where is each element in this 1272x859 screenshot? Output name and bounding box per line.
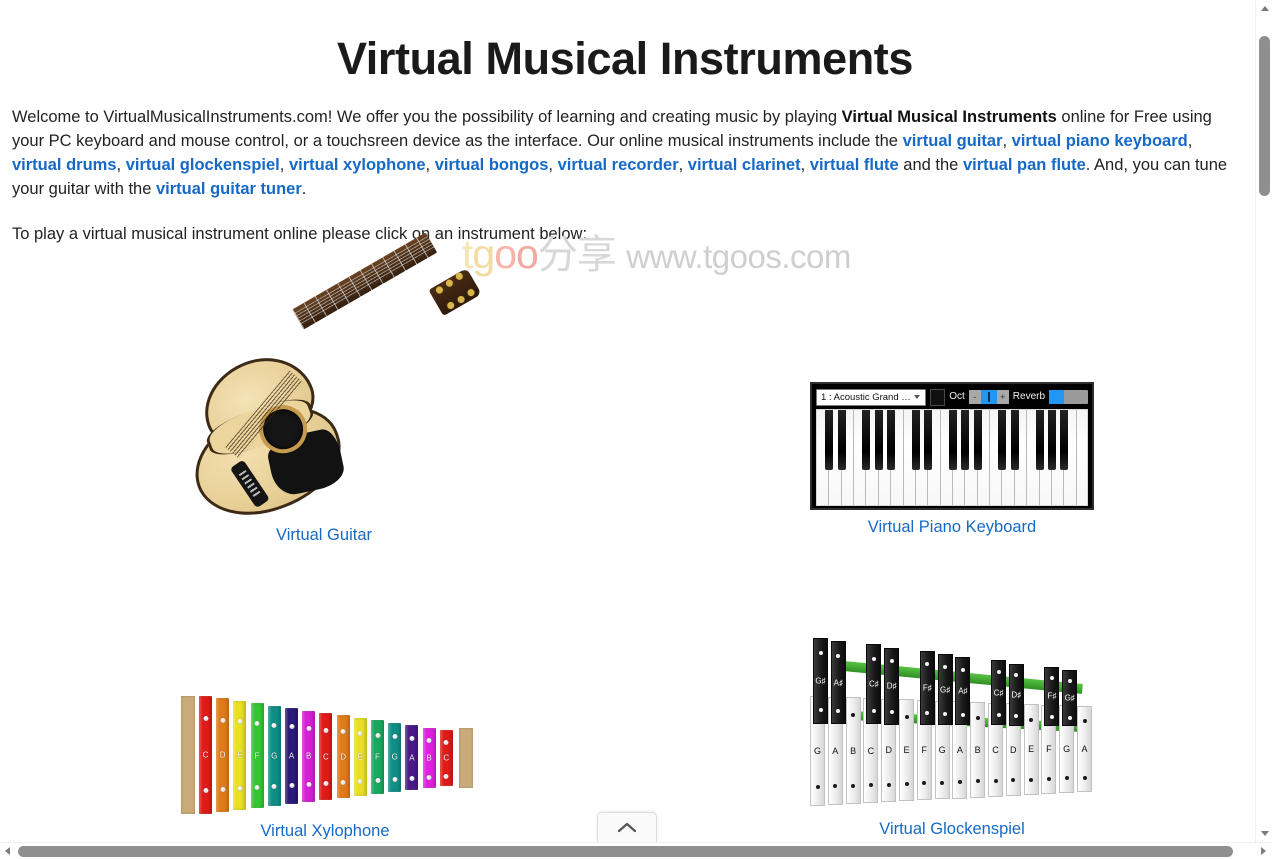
- glockenspiel-bar-peg: [816, 785, 820, 789]
- xylophone-bar-peg: [255, 721, 260, 726]
- glockenspiel-bar-peg: [851, 784, 855, 788]
- xylophone-bar-peg: [444, 740, 449, 745]
- instrument-card-xylophone[interactable]: CDEFGABCDEFGABC Virtual Xylophone: [172, 682, 478, 841]
- glockenspiel-bar-peg: [1029, 778, 1033, 782]
- intro-sep-7: ,: [679, 156, 688, 174]
- volume-box[interactable]: [930, 389, 946, 406]
- xylophone-bar-label: G: [268, 751, 281, 760]
- glockenspiel-graphic[interactable]: GABCDEFGABCDEFGAG♯A♯C♯D♯F♯G♯A♯C♯D♯F♯G♯: [804, 630, 1100, 812]
- triangle-right-icon: [1261, 847, 1266, 855]
- intro-sep-8: ,: [801, 156, 810, 174]
- glockenspiel-bar-peg: [940, 781, 944, 785]
- instrument-card-glockenspiel[interactable]: GABCDEFGABCDEFGAG♯A♯C♯D♯F♯G♯A♯C♯D♯F♯G♯ V…: [802, 630, 1102, 839]
- xylophone-bar-peg: [272, 723, 277, 728]
- glockenspiel-white-bar-label: E: [900, 745, 913, 755]
- glockenspiel-bar-peg: [1014, 714, 1018, 718]
- glockenspiel-white-bar-label: F: [918, 745, 931, 755]
- glockenspiel-bar-peg: [905, 782, 909, 786]
- chevron-down-icon: [914, 395, 920, 399]
- piano-black-key[interactable]: [998, 410, 1006, 470]
- octave-control[interactable]: - +: [969, 390, 1009, 404]
- xylophone-bar-label: A: [405, 753, 418, 762]
- xylophone-bar[interactable]: A: [405, 725, 418, 790]
- intro-sep-4: ,: [280, 156, 289, 174]
- glockenspiel-bar-peg: [1083, 719, 1087, 723]
- scroll-to-top-button[interactable]: [597, 812, 657, 842]
- glockenspiel-black-bar-label: G♯: [939, 685, 952, 694]
- xylophone-bar-label: D: [216, 751, 229, 760]
- piano-black-key[interactable]: [912, 410, 920, 470]
- xylophone-bar-label: C: [440, 754, 453, 763]
- piano-black-key[interactable]: [825, 410, 833, 470]
- xylophone-bar-label: F: [371, 753, 384, 762]
- link-virtual-guitar-tuner[interactable]: virtual guitar tuner: [156, 180, 302, 198]
- glockenspiel-black-bar-label: F♯: [1045, 692, 1058, 701]
- glockenspiel-bar-peg: [1050, 715, 1054, 719]
- vertical-scrollbar-thumb[interactable]: [1259, 36, 1270, 196]
- guitar-tuning-peg: [466, 288, 476, 298]
- glockenspiel-bar-peg: [869, 783, 873, 787]
- glockenspiel-bar-peg: [1083, 776, 1087, 780]
- glockenspiel-bar-peg: [1014, 673, 1018, 677]
- reverb-label: Reverb: [1013, 391, 1045, 403]
- link-virtual-xylophone[interactable]: virtual xylophone: [289, 156, 426, 174]
- piano-black-key[interactable]: [862, 410, 870, 470]
- glockenspiel-bar-peg: [1047, 777, 1051, 781]
- glockenspiel-white-bar-label: E: [1025, 744, 1038, 754]
- glockenspiel-bar-peg: [976, 779, 980, 783]
- xylophone-bar[interactable]: C: [440, 730, 453, 786]
- link-virtual-glockenspiel[interactable]: virtual glockenspiel: [126, 156, 280, 174]
- glockenspiel-white-bar-label: G: [811, 746, 824, 756]
- intro-sep-2: ,: [1188, 132, 1193, 150]
- piano-black-key[interactable]: [924, 410, 932, 470]
- xylophone-bar[interactable]: E: [233, 701, 246, 810]
- glockenspiel-black-bar-label: D♯: [1010, 690, 1023, 699]
- xylophone-bar-label: E: [354, 752, 367, 761]
- horizontal-scrollbar-thumb[interactable]: [18, 846, 1233, 857]
- glockenspiel-white-bar-label: C: [864, 746, 877, 756]
- xylophone-bar-peg: [289, 783, 294, 788]
- glockenspiel-white-bar-label: G: [1060, 744, 1073, 754]
- piano-black-key[interactable]: [961, 410, 969, 470]
- glockenspiel-bar-peg: [836, 709, 840, 713]
- glockenspiel-bar-peg: [976, 716, 980, 720]
- piano-black-key[interactable]: [1036, 410, 1044, 470]
- glockenspiel-white-bar-label: G: [936, 745, 949, 755]
- glockenspiel-bar-peg: [836, 654, 840, 658]
- intro-text-3: and the: [899, 156, 963, 174]
- guitar-tuning-peg: [445, 278, 455, 288]
- triangle-up-icon: [1261, 6, 1269, 11]
- reverb-slider[interactable]: [1049, 390, 1088, 404]
- link-virtual-pan-flute[interactable]: virtual pan flute: [963, 156, 1086, 174]
- xylophone-bar-peg: [237, 719, 242, 724]
- glockenspiel-white-bar-label: F: [1042, 744, 1055, 754]
- vertical-scrollbar[interactable]: [1255, 0, 1272, 842]
- xylophone-bar-peg: [392, 777, 397, 782]
- xylophone-bar-peg: [358, 779, 363, 784]
- glockenspiel-black-bar-label: A♯: [832, 678, 845, 687]
- xylophone-bar-label: C: [319, 752, 332, 761]
- xylophone-bar-peg: [341, 729, 346, 734]
- octave-minus-button[interactable]: -: [969, 390, 981, 404]
- piano-black-key[interactable]: [1060, 410, 1068, 470]
- xylophone-bar-label: B: [302, 752, 315, 761]
- xylophone-bar-peg: [220, 718, 225, 723]
- piano-illustration[interactable]: 1 : Acoustic Grand Piano Oct - + Reverb: [810, 382, 1094, 510]
- intro-sep-3: ,: [117, 156, 126, 174]
- glockenspiel-black-bar-label: D♯: [885, 682, 898, 691]
- xylophone-bar-peg: [427, 775, 432, 780]
- reverb-slider-fill: [1049, 390, 1064, 404]
- xylophone-bar-label: F: [251, 751, 264, 760]
- glockenspiel-bar-peg: [905, 715, 909, 719]
- guitar-graphic: [174, 282, 474, 518]
- xylophone-bar-peg: [203, 716, 208, 721]
- xylophone-bar[interactable]: B: [423, 728, 436, 788]
- intro-sep-1: ,: [1003, 132, 1012, 150]
- piano-black-key[interactable]: [974, 410, 982, 470]
- glockenspiel-black-bar-label: G♯: [1063, 694, 1076, 703]
- glockenspiel-bar-peg: [943, 665, 947, 669]
- piano-keys[interactable]: [816, 409, 1088, 506]
- horizontal-scrollbar[interactable]: [0, 842, 1272, 859]
- link-virtual-drums[interactable]: virtual drums: [12, 156, 117, 174]
- xylophone-bar-peg: [237, 786, 242, 791]
- intro-text-5: .: [302, 180, 307, 198]
- glockenspiel-black-bar[interactable]: F♯: [1044, 667, 1059, 726]
- glockenspiel-bar-peg: [1050, 676, 1054, 680]
- glockenspiel-white-bar-label: A: [1078, 744, 1091, 754]
- link-virtual-guitar[interactable]: virtual guitar: [903, 132, 1003, 150]
- octave-plus-button[interactable]: +: [997, 390, 1009, 404]
- glockenspiel-bar-peg: [872, 657, 876, 661]
- glockenspiel-bar-peg: [1068, 716, 1072, 720]
- browser-page: Virtual Musical Instruments Welcome to V…: [0, 0, 1272, 859]
- xylophone-bar-peg: [392, 734, 397, 739]
- scroll-right-arrow[interactable]: [1255, 843, 1272, 859]
- xylophone-bar[interactable]: G: [268, 706, 281, 806]
- glockenspiel-black-bar-label: C♯: [867, 680, 880, 689]
- xylophone-bar-label: B: [423, 753, 436, 762]
- glockenspiel-bar-peg: [890, 659, 894, 663]
- intro-sep-6: ,: [548, 156, 557, 174]
- glockenspiel-black-bar[interactable]: A♯: [955, 657, 970, 725]
- xylophone-bar[interactable]: G: [388, 723, 401, 792]
- guitar-body: [161, 332, 378, 535]
- xylophone-bar-peg: [375, 733, 380, 738]
- glockenspiel-illustration[interactable]: GABCDEFGABCDEFGAG♯A♯C♯D♯F♯G♯A♯C♯D♯F♯G♯: [804, 630, 1100, 812]
- xylophone-bar-peg: [289, 724, 294, 729]
- piano-black-key[interactable]: [1048, 410, 1056, 470]
- xylophone-bar-peg: [409, 776, 414, 781]
- glockenspiel-white-bar[interactable]: B: [970, 702, 985, 798]
- xylophone-bar-peg: [272, 784, 277, 789]
- link-virtual-piano-keyboard[interactable]: virtual piano keyboard: [1012, 132, 1188, 150]
- xylophone-bar-peg: [323, 728, 328, 733]
- glockenspiel-black-bar[interactable]: C♯: [991, 660, 1006, 725]
- link-virtual-bongos[interactable]: virtual bongos: [435, 156, 549, 174]
- glockenspiel-white-bar-label: A: [829, 746, 842, 756]
- glockenspiel-bar-peg: [961, 713, 965, 717]
- piano-widget[interactable]: 1 : Acoustic Grand Piano Oct - + Reverb: [810, 382, 1094, 510]
- xylophone-bar-label: A: [285, 752, 298, 761]
- glockenspiel-bar-peg: [997, 670, 1001, 674]
- glockenspiel-bar-peg: [961, 668, 965, 672]
- glockenspiel-white-bar-label: C: [989, 745, 1002, 755]
- scroll-left-arrow[interactable]: [0, 843, 17, 859]
- guitar-tuning-peg: [454, 272, 464, 282]
- instrument-card-piano[interactable]: 1 : Acoustic Grand Piano Oct - + Reverb: [802, 382, 1102, 537]
- piano-black-key[interactable]: [949, 410, 957, 470]
- glockenspiel-black-bar[interactable]: D♯: [884, 648, 899, 725]
- xylophone-bar-label: E: [233, 751, 246, 760]
- guitar-tuning-peg: [446, 301, 456, 311]
- glockenspiel-bar-peg: [925, 711, 929, 715]
- xylophone-bar[interactable]: D: [216, 698, 229, 812]
- xylophone-bar-peg: [306, 782, 311, 787]
- intro-text-1: Welcome to VirtualMusicalInstruments.com…: [12, 108, 842, 126]
- glockenspiel-bar-peg: [887, 783, 891, 787]
- page-title: Virtual Musical Instruments: [12, 0, 1238, 84]
- glockenspiel-bar-peg: [890, 710, 894, 714]
- glockenspiel-bar-peg: [1029, 718, 1033, 722]
- triangle-down-icon: [1261, 831, 1269, 836]
- xylophone-bar[interactable]: E: [354, 718, 367, 796]
- xylophone-bar[interactable]: D: [337, 715, 350, 798]
- instrument-select-value: 1 : Acoustic Grand Piano: [821, 392, 914, 403]
- glockenspiel-bar-peg: [922, 781, 926, 785]
- glockenspiel-black-bar[interactable]: F♯: [920, 651, 935, 725]
- glockenspiel-black-bar[interactable]: G♯: [1062, 670, 1077, 726]
- xylophone-bar-label: G: [388, 753, 401, 762]
- glockenspiel-black-bar[interactable]: A♯: [831, 641, 846, 724]
- xylophone-bar-peg: [358, 731, 363, 736]
- xylophone-frame-right: [459, 728, 473, 788]
- xylophone-bar-peg: [444, 774, 449, 779]
- octave-slider[interactable]: [981, 390, 997, 404]
- glockenspiel-bar-peg: [819, 651, 823, 655]
- glockenspiel-black-bar-label: F♯: [921, 683, 934, 692]
- glockenspiel-bar-peg: [819, 708, 823, 712]
- instrument-select[interactable]: 1 : Acoustic Grand Piano: [816, 389, 926, 406]
- xylophone-bar[interactable]: F: [251, 703, 264, 808]
- chevron-up-icon: [617, 821, 637, 833]
- glockenspiel-black-bar[interactable]: C♯: [866, 644, 881, 724]
- link-virtual-clarinet[interactable]: virtual clarinet: [688, 156, 801, 174]
- triangle-left-icon: [5, 847, 10, 855]
- xylophone-graphic[interactable]: CDEFGABCDEFGABC: [177, 682, 473, 814]
- xylophone-bar-peg: [341, 780, 346, 785]
- glockenspiel-white-bar-label: A: [953, 745, 966, 755]
- xylophone-bar-peg: [323, 781, 328, 786]
- glockenspiel-black-bar-label: G♯: [814, 677, 827, 686]
- piano-black-key[interactable]: [875, 410, 883, 470]
- glockenspiel-bar-peg: [851, 713, 855, 717]
- glockenspiel-white-bar[interactable]: B: [846, 697, 861, 804]
- glockenspiel-white-bar[interactable]: A: [1077, 706, 1092, 792]
- glockenspiel-bar-peg: [925, 662, 929, 666]
- guitar-tuning-peg: [456, 295, 466, 305]
- glockenspiel-bar-peg: [1065, 776, 1069, 780]
- guitar-tuning-peg: [435, 285, 445, 295]
- glockenspiel-black-bar-label: C♯: [992, 688, 1005, 697]
- xylophone-bar-peg: [220, 787, 225, 792]
- xylophone-bar[interactable]: C: [319, 713, 332, 800]
- glockenspiel-bar-peg: [833, 784, 837, 788]
- glockenspiel-bar-peg: [997, 713, 1001, 717]
- glockenspiel-black-bar[interactable]: G♯: [938, 654, 953, 725]
- xylophone-bar-peg: [255, 785, 260, 790]
- xylophone-bar-peg: [427, 738, 432, 743]
- caption-virtual-xylophone[interactable]: Virtual Xylophone: [172, 821, 478, 841]
- glockenspiel-bar-peg: [958, 780, 962, 784]
- intro-paragraph: Welcome to VirtualMusicalInstruments.com…: [12, 84, 1238, 201]
- xylophone-bar[interactable]: C: [199, 696, 212, 814]
- glockenspiel-black-bar-label: A♯: [956, 687, 969, 696]
- xylophone-bar-peg: [306, 726, 311, 731]
- glockenspiel-black-bar[interactable]: D♯: [1009, 664, 1024, 726]
- xylophone-illustration[interactable]: CDEFGABCDEFGABC: [177, 682, 473, 814]
- xylophone-bar-label: C: [199, 751, 212, 760]
- xylophone-bar[interactable]: A: [285, 708, 298, 804]
- xylophone-frame-left: [181, 696, 195, 814]
- scroll-up-arrow[interactable]: [1256, 0, 1272, 17]
- link-virtual-recorder[interactable]: virtual recorder: [558, 156, 679, 174]
- piano-black-key[interactable]: [838, 410, 846, 470]
- scroll-down-arrow[interactable]: [1256, 825, 1272, 842]
- glockenspiel-white-bar-label: D: [882, 745, 895, 755]
- xylophone-bar-label: D: [337, 752, 350, 761]
- guitar-illustration[interactable]: [174, 282, 474, 518]
- glockenspiel-white-bar-label: B: [847, 746, 860, 756]
- glockenspiel-bar-peg: [1011, 778, 1015, 782]
- glockenspiel-bar-peg: [1068, 679, 1072, 683]
- intro-bold-phrase: Virtual Musical Instruments: [842, 108, 1057, 126]
- instruction-line: To play a virtual musical instrument onl…: [12, 201, 1238, 246]
- intro-sep-5: ,: [426, 156, 435, 174]
- glockenspiel-white-bar-label: B: [971, 745, 984, 755]
- glockenspiel-white-bar-label: D: [1007, 745, 1020, 755]
- piano-black-key[interactable]: [887, 410, 895, 470]
- instrument-card-guitar[interactable]: Virtual Guitar: [164, 282, 484, 545]
- glockenspiel-white-bar[interactable]: E: [1024, 704, 1039, 795]
- glockenspiel-black-bar[interactable]: G♯: [813, 638, 828, 724]
- glockenspiel-bar-peg: [872, 709, 876, 713]
- xylophone-bar-peg: [375, 778, 380, 783]
- glockenspiel-bar-peg: [994, 779, 998, 783]
- xylophone-bar-peg: [203, 788, 208, 793]
- xylophone-bar[interactable]: B: [302, 711, 315, 802]
- caption-virtual-glockenspiel[interactable]: Virtual Glockenspiel: [802, 819, 1102, 839]
- piano-black-key[interactable]: [1011, 410, 1019, 470]
- glockenspiel-bar-peg: [943, 712, 947, 716]
- caption-virtual-piano-keyboard[interactable]: Virtual Piano Keyboard: [802, 517, 1102, 537]
- octave-label: Oct: [949, 391, 965, 403]
- link-virtual-flute[interactable]: virtual flute: [810, 156, 899, 174]
- xylophone-bar[interactable]: F: [371, 720, 384, 794]
- glockenspiel-white-bar[interactable]: E: [899, 699, 914, 801]
- piano-toolbar: 1 : Acoustic Grand Piano Oct - + Reverb: [816, 388, 1088, 406]
- piano-white-key[interactable]: [1077, 410, 1088, 506]
- xylophone-bar-peg: [409, 736, 414, 741]
